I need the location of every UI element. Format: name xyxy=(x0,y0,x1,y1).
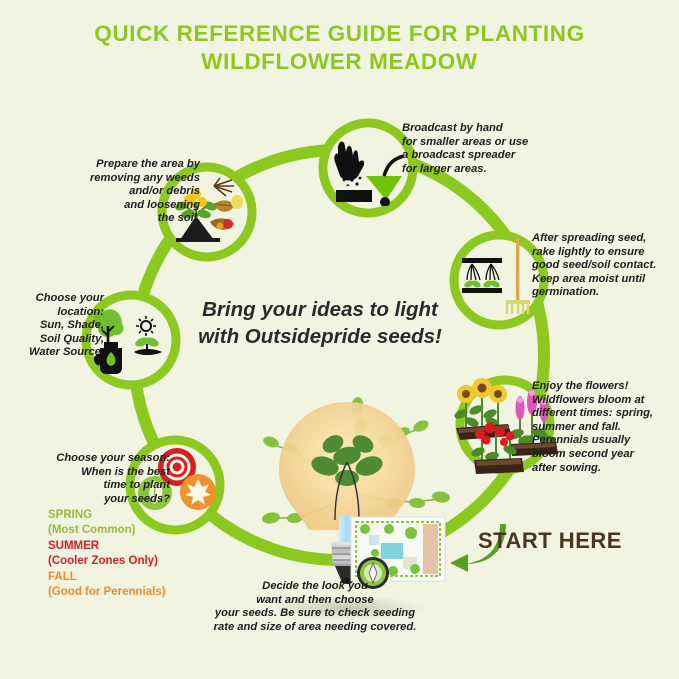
callout-broadcast: Broadcast by hand for smaller areas or u… xyxy=(402,122,562,176)
page-title: QUICK REFERENCE GUIDE FOR PLANTING WILDF… xyxy=(0,20,679,76)
tagline-line2: with Outsidepride seeds! xyxy=(198,325,442,348)
page-title-line2: WILDFLOWER MEADOW xyxy=(0,48,679,76)
callout-enjoy: Enjoy the flowers! Wildflowers bloom at … xyxy=(532,380,679,475)
callout-season: Choose your season: When is the best tim… xyxy=(10,452,170,506)
callout-decide: Decide the look you want and then choose… xyxy=(190,580,440,634)
season-fall-note: (Good for Perennials) xyxy=(10,585,170,600)
center-tagline: Bring your ideas to light with Outsidepr… xyxy=(170,296,470,350)
callout-prepare: Prepare the area by removing any weeds a… xyxy=(48,158,200,226)
season-fall-name: FALL xyxy=(10,570,170,585)
season-spring-note: (Most Common) xyxy=(10,523,170,538)
callout-location: Choose your location: Sun, Shade, Soil Q… xyxy=(4,292,104,360)
tagline-line1: Bring your ideas to light xyxy=(202,298,438,321)
rake-watering-icon xyxy=(460,238,540,322)
season-legend: SPRING (Most Common) SUMMER (Cooler Zone… xyxy=(10,508,170,600)
season-summer-name: SUMMER xyxy=(10,539,170,554)
start-here-label: START HERE xyxy=(478,528,622,554)
hand-seeding-spreader-icon xyxy=(332,132,406,206)
callout-rake: After spreading seed, rake lightly to en… xyxy=(532,232,679,300)
page-title-line1: QUICK REFERENCE GUIDE FOR PLANTING xyxy=(94,21,584,46)
season-spring-name: SPRING xyxy=(10,508,170,523)
season-summer-note: (Cooler Zones Only) xyxy=(10,554,170,569)
